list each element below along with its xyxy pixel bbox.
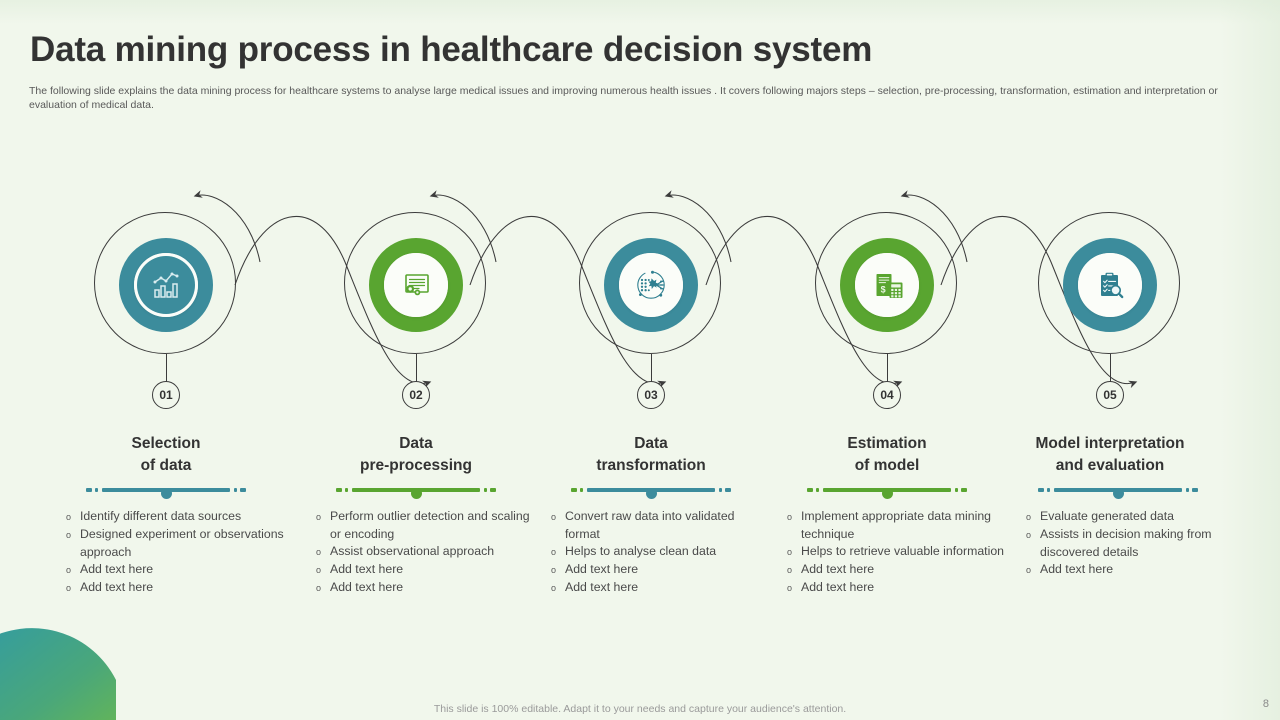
step-heading-line2: of model — [769, 455, 1005, 477]
list-item: o Add text here — [66, 561, 284, 579]
bullet-marker: o — [316, 508, 330, 526]
step-heading-line2: of data — [48, 455, 284, 477]
bullet-text: Implement appropriate data mining techni… — [801, 508, 1005, 543]
step-bullet-list: o Evaluate generated data o Assists in d… — [992, 508, 1228, 579]
bullet-marker: o — [316, 561, 330, 579]
bullet-text: Add text here — [80, 579, 284, 597]
list-item: o Add text here — [551, 579, 769, 597]
bullet-marker: o — [1026, 526, 1040, 544]
svg-text:$: $ — [881, 284, 886, 294]
step-number-badge: 05 — [1096, 381, 1124, 409]
step-stem — [1110, 354, 1111, 382]
bullet-text: Add text here — [330, 561, 534, 579]
bullet-text: Add text here — [801, 561, 1005, 579]
bullet-text: Assists in decision making from discover… — [1040, 526, 1228, 561]
step-heading-line1: Estimation — [769, 433, 1005, 455]
step-divider — [807, 484, 967, 498]
step-bullet-list: o Identify different data sources o Desi… — [48, 508, 284, 597]
step-number-badge: 04 — [873, 381, 901, 409]
page-number: 8 — [1263, 698, 1269, 710]
step-heading-line2: transformation — [533, 455, 769, 477]
step-heading-line1: Selection — [48, 433, 284, 455]
process-step-02[interactable]: 02 Data pre-processing o Perform outlier… — [298, 0, 534, 720]
list-item: o Implement appropriate data mining tech… — [787, 508, 1005, 543]
bullet-text: Identify different data sources — [80, 508, 284, 526]
bullet-marker: o — [66, 579, 80, 597]
bullet-text: Add text here — [801, 579, 1005, 597]
step-number-badge: 03 — [637, 381, 665, 409]
step-number-badge: 01 — [152, 381, 180, 409]
step-heading: Data pre-processing — [298, 433, 534, 477]
step-number-badge: 02 — [402, 381, 430, 409]
bullet-text: Add text here — [80, 561, 284, 579]
bullet-marker: o — [787, 543, 801, 561]
bullet-text: Evaluate generated data — [1040, 508, 1228, 526]
list-item: o Designed experiment or observations ap… — [66, 526, 284, 561]
bullet-marker: o — [787, 561, 801, 579]
bullet-text: Convert raw data into validated format — [565, 508, 769, 543]
list-item: o Perform outlier detection and scaling … — [316, 508, 534, 543]
invoice-calculator-icon: $ — [861, 259, 913, 311]
list-item: o Helps to analyse clean data — [551, 543, 769, 561]
document-gear-icon — [390, 259, 442, 311]
bullet-text: Perform outlier detection and scaling or… — [330, 508, 534, 543]
process-step-03[interactable]: 03 Data transformation o Convert raw dat… — [533, 0, 769, 720]
bullet-marker: o — [66, 561, 80, 579]
step-heading-line1: Model interpretation — [982, 433, 1238, 455]
bullet-marker: o — [1026, 508, 1040, 526]
step-divider — [571, 484, 731, 498]
step-stem — [166, 354, 167, 382]
list-item: o Helps to retrieve valuable information — [787, 543, 1005, 561]
list-item: o Add text here — [551, 561, 769, 579]
list-item: o Assist observational approach — [316, 543, 534, 561]
process-step-05[interactable]: 05 Model interpretation and evaluation o… — [992, 0, 1228, 720]
step-stem — [651, 354, 652, 382]
bullet-marker: o — [316, 579, 330, 597]
list-item: o Identify different data sources — [66, 508, 284, 526]
step-heading: Model interpretation and evaluation — [982, 433, 1238, 477]
step-bullet-list: o Perform outlier detection and scaling … — [298, 508, 534, 597]
bullet-text: Assist observational approach — [330, 543, 534, 561]
footer-note: This slide is 100% editable. Adapt it to… — [0, 703, 1280, 715]
step-heading-line1: Data — [298, 433, 534, 455]
bullet-text: Add text here — [565, 579, 769, 597]
list-item: o Convert raw data into validated format — [551, 508, 769, 543]
bullet-marker: o — [551, 543, 565, 561]
step-divider — [1038, 484, 1198, 498]
step-heading-line2: and evaluation — [982, 455, 1238, 477]
step-stem — [887, 354, 888, 382]
bar-chart-line-icon — [140, 259, 192, 311]
bullet-marker: o — [66, 508, 80, 526]
bullet-text: Designed experiment or observations appr… — [80, 526, 284, 561]
bullet-text: Add text here — [565, 561, 769, 579]
bullet-marker: o — [66, 526, 80, 544]
bullet-text: Add text here — [1040, 561, 1228, 579]
bullet-text: Helps to retrieve valuable information — [801, 543, 1005, 561]
bullet-marker: o — [1026, 561, 1040, 579]
corner-arc-decoration — [0, 596, 116, 720]
list-item: o Add text here — [787, 561, 1005, 579]
bullet-marker: o — [316, 543, 330, 561]
step-divider — [336, 484, 496, 498]
list-item: o Add text here — [1026, 561, 1228, 579]
list-item: o Add text here — [316, 561, 534, 579]
list-item: o Assists in decision making from discov… — [1026, 526, 1228, 561]
list-item: o Evaluate generated data — [1026, 508, 1228, 526]
bullet-marker: o — [551, 561, 565, 579]
step-heading: Estimation of model — [769, 433, 1005, 477]
data-transform-icon — [625, 259, 677, 311]
step-heading-line1: Data — [533, 433, 769, 455]
bullet-marker: o — [551, 508, 565, 526]
step-heading: Data transformation — [533, 433, 769, 477]
list-item: o Add text here — [787, 579, 1005, 597]
bullet-text: Add text here — [330, 579, 534, 597]
list-item: o Add text here — [66, 579, 284, 597]
process-step-04[interactable]: $ 04 — [769, 0, 1005, 720]
slide-root: Data mining process in healthcare decisi… — [0, 0, 1280, 720]
step-bullet-list: o Convert raw data into validated format… — [533, 508, 769, 597]
step-divider — [86, 484, 246, 498]
process-steps: 01 Selection of data o Identify differen… — [0, 0, 1280, 720]
list-item: o Add text here — [316, 579, 534, 597]
step-bullet-list: o Implement appropriate data mining tech… — [769, 508, 1005, 597]
bullet-marker: o — [551, 579, 565, 597]
step-heading: Selection of data — [48, 433, 284, 477]
bullet-marker: o — [787, 508, 801, 526]
step-stem — [416, 354, 417, 382]
bullet-text: Helps to analyse clean data — [565, 543, 769, 561]
clipboard-search-icon — [1084, 259, 1136, 311]
bullet-marker: o — [787, 579, 801, 597]
step-heading-line2: pre-processing — [298, 455, 534, 477]
